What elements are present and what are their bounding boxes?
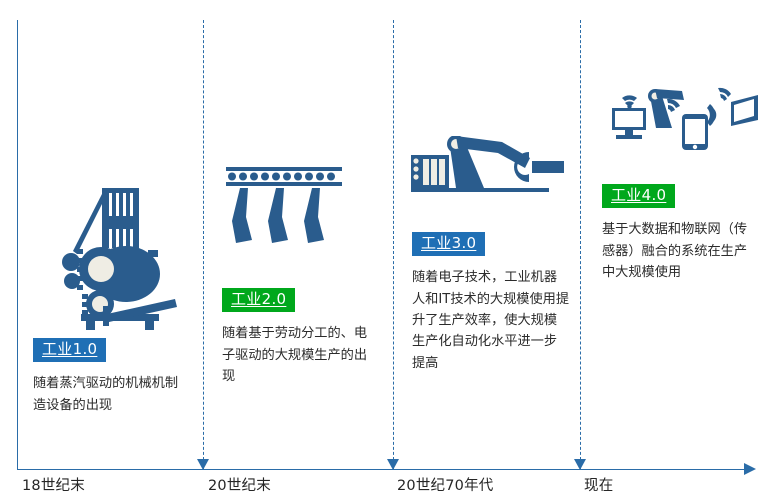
time-axis-arrow — [744, 463, 756, 475]
description-industry-1-0: 随着蒸汽驱动的机械机制造设备的出现 — [33, 373, 191, 416]
era-divider-3 — [393, 20, 394, 470]
description-industry-3-0: 随着电子技术，工业机器人和IT技术的大规模使用提升了生产效率，使大规模生产化自动… — [412, 267, 570, 374]
era-divider-2 — [203, 20, 204, 470]
axis-label-4: 现在 — [584, 474, 613, 495]
robot-arm-icon — [406, 136, 568, 198]
badge-industry-3-0[interactable]: 工业3.0 — [412, 232, 485, 256]
iot-network-icon — [600, 82, 758, 150]
stage-block-industry-3-0: 工业3.0 随着电子技术，工业机器人和IT技术的大规模使用提升了生产效率，使大规… — [412, 232, 572, 374]
badge-industry-4-0[interactable]: 工业4.0 — [602, 184, 675, 208]
axis-label-3: 20世纪70年代 — [397, 474, 494, 495]
stage-block-industry-1-0: 工业1.0 随着蒸汽驱动的机械机制造设备的出现 — [33, 338, 193, 416]
industry-timeline-infographic: 18世纪末 20世纪末 20世纪70年代 现在 — [0, 0, 762, 501]
stage-block-industry-4-0: 工业4.0 基于大数据和物联网（传感器）融合的系统在生产中大规模使用 — [602, 184, 762, 283]
time-axis-line — [17, 469, 744, 470]
era-divider-1 — [17, 20, 18, 470]
badge-industry-2-0[interactable]: 工业2.0 — [222, 288, 295, 312]
description-industry-4-0: 基于大数据和物联网（传感器）融合的系统在生产中大规模使用 — [602, 219, 760, 283]
description-industry-2-0: 随着基于劳动分工的、电子驱动的大规模生产的出现 — [222, 323, 380, 387]
assembly-line-icon — [226, 167, 342, 267]
steam-engine-icon — [55, 186, 185, 331]
axis-label-1: 18世纪末 — [22, 474, 85, 495]
stage-block-industry-2-0: 工业2.0 随着基于劳动分工的、电子驱动的大规模生产的出现 — [222, 288, 382, 387]
badge-industry-1-0[interactable]: 工业1.0 — [33, 338, 106, 362]
axis-label-2: 20世纪末 — [208, 474, 271, 495]
era-divider-4 — [580, 20, 581, 470]
